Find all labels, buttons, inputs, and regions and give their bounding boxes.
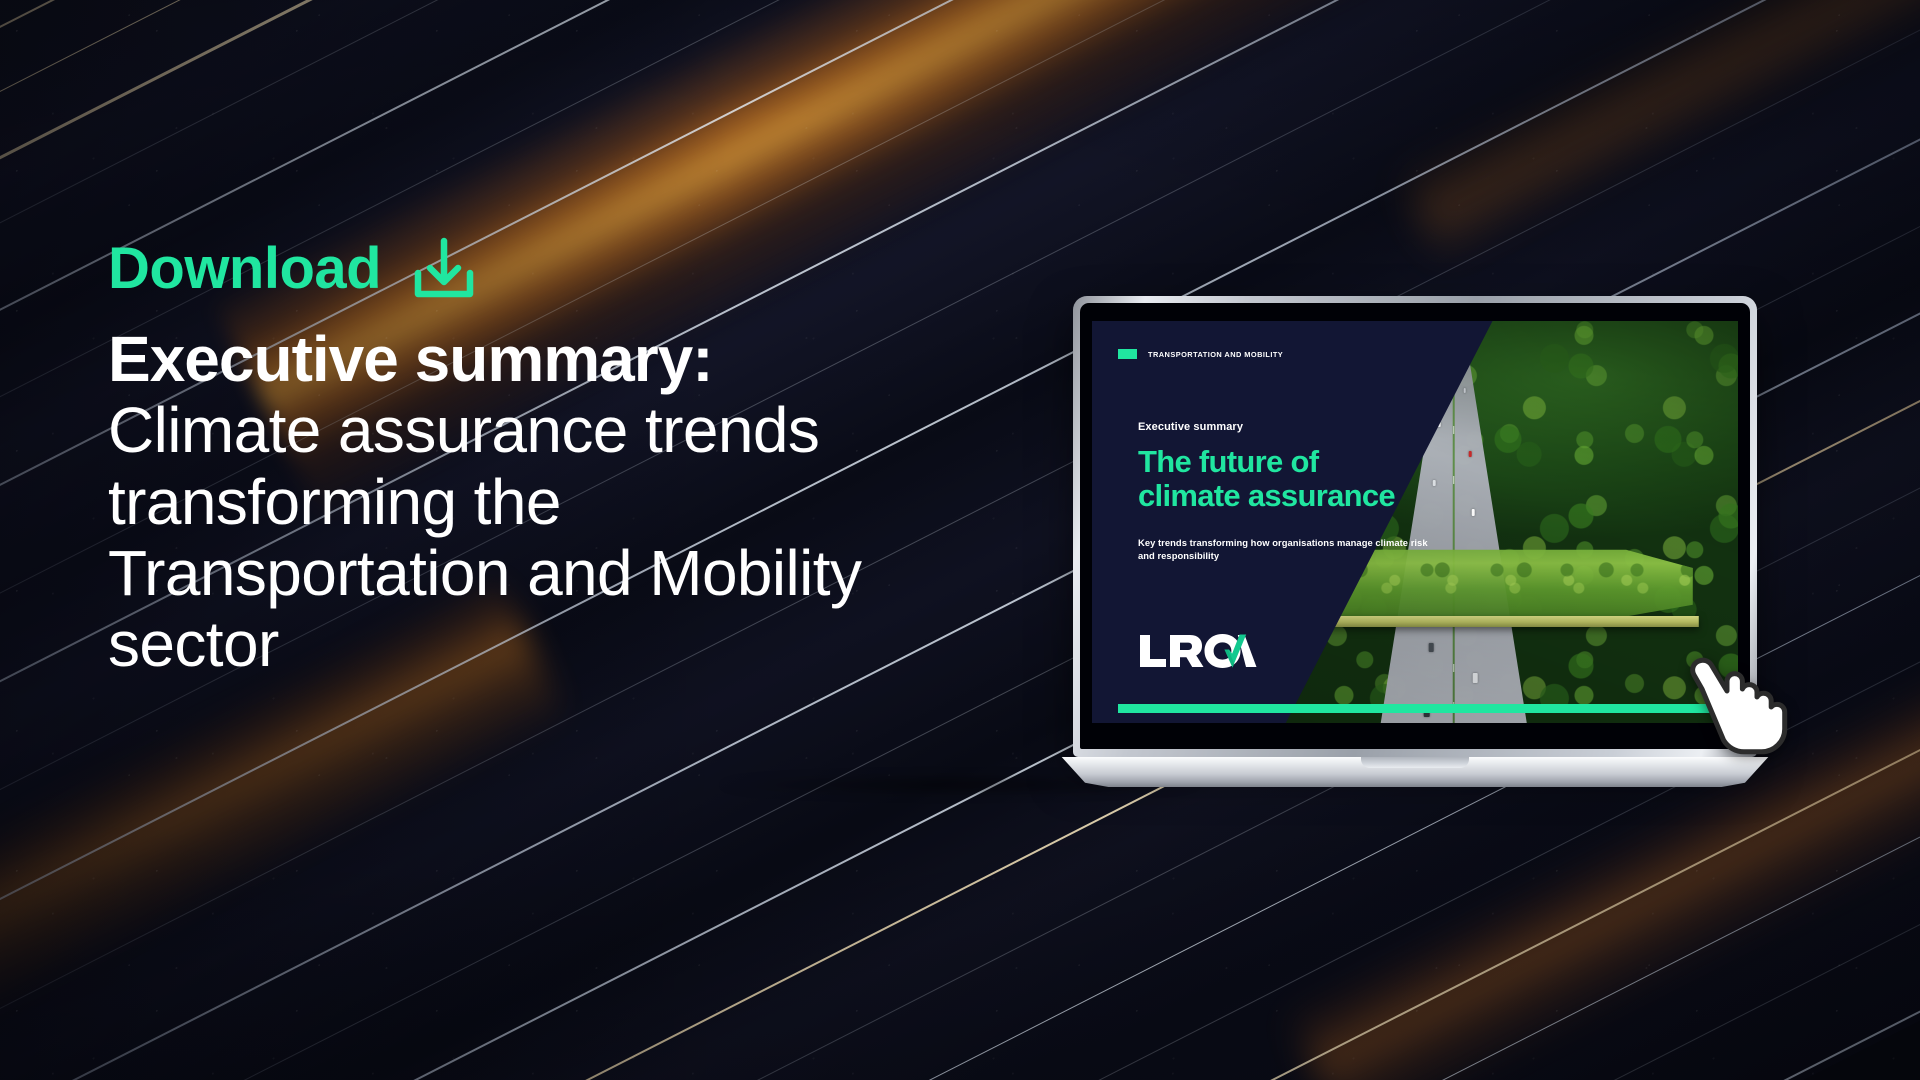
eyebrow-chip-icon [1118, 349, 1137, 359]
slide-eyebrow: TRANSPORTATION AND MOBILITY [1118, 349, 1283, 359]
banner-stage: Download Executive summary: Climate assu… [0, 0, 1920, 1080]
slide-accent-rule [1118, 704, 1712, 713]
slide-title: The future of climate assurance [1138, 445, 1395, 513]
pointing-hand-cursor[interactable] [1686, 645, 1790, 757]
laptop-base-notch [1361, 757, 1469, 768]
laptop-bezel: TRANSPORTATION AND MOBILITY Executive su… [1080, 303, 1750, 749]
download-row[interactable]: Download [108, 236, 988, 302]
laptop-lid: TRANSPORTATION AND MOBILITY Executive su… [1073, 296, 1757, 757]
headline-lede: Executive summary: [108, 324, 948, 395]
laptop-base [1050, 757, 1780, 787]
lrqa-logo [1138, 629, 1258, 671]
download-label: Download [108, 240, 381, 298]
slide-title-line-2: climate assurance [1138, 479, 1395, 513]
slide-kicker: Executive summary [1138, 421, 1243, 433]
headline-body: Climate assurance trends transforming th… [108, 394, 861, 680]
laptop-screen[interactable]: TRANSPORTATION AND MOBILITY Executive su… [1092, 321, 1738, 723]
slide-content: TRANSPORTATION AND MOBILITY Executive su… [1092, 321, 1738, 723]
copy-block: Download Executive summary: Climate assu… [108, 236, 988, 681]
download-arrow-icon[interactable] [407, 236, 481, 302]
slide-title-line-1: The future of [1138, 445, 1395, 479]
slide-eyebrow-label: TRANSPORTATION AND MOBILITY [1148, 350, 1283, 359]
page-title: Executive summary: Climate assurance tre… [108, 324, 948, 681]
slide-subtitle: Key trends transforming how organisation… [1138, 536, 1428, 563]
laptop-mockup: TRANSPORTATION AND MOBILITY Executive su… [1050, 296, 1780, 787]
